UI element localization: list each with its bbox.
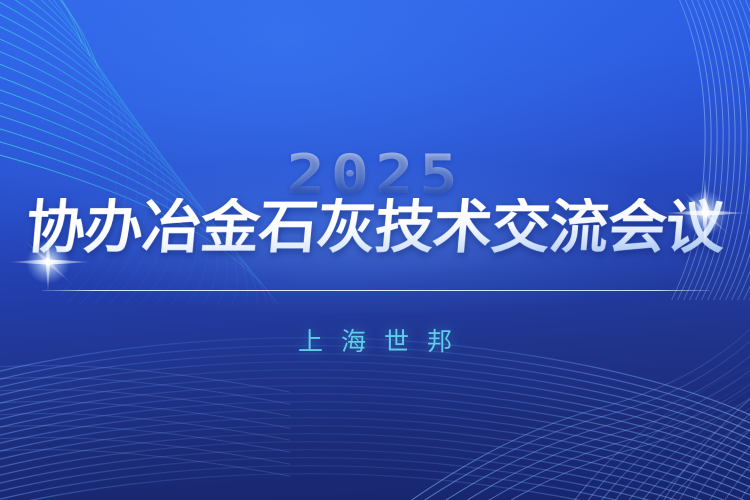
organizer-subtitle: 上海世邦 — [0, 322, 750, 358]
banner-content: 2025 协办冶金石灰技术交流会议 上海世邦 — [0, 0, 750, 500]
year-label: 2025 — [0, 148, 750, 202]
conference-banner: 2025 协办冶金石灰技术交流会议 上海世邦 — [0, 0, 750, 500]
page-title: 协办冶金石灰技术交流会议 — [0, 198, 750, 258]
title-divider — [42, 290, 710, 291]
